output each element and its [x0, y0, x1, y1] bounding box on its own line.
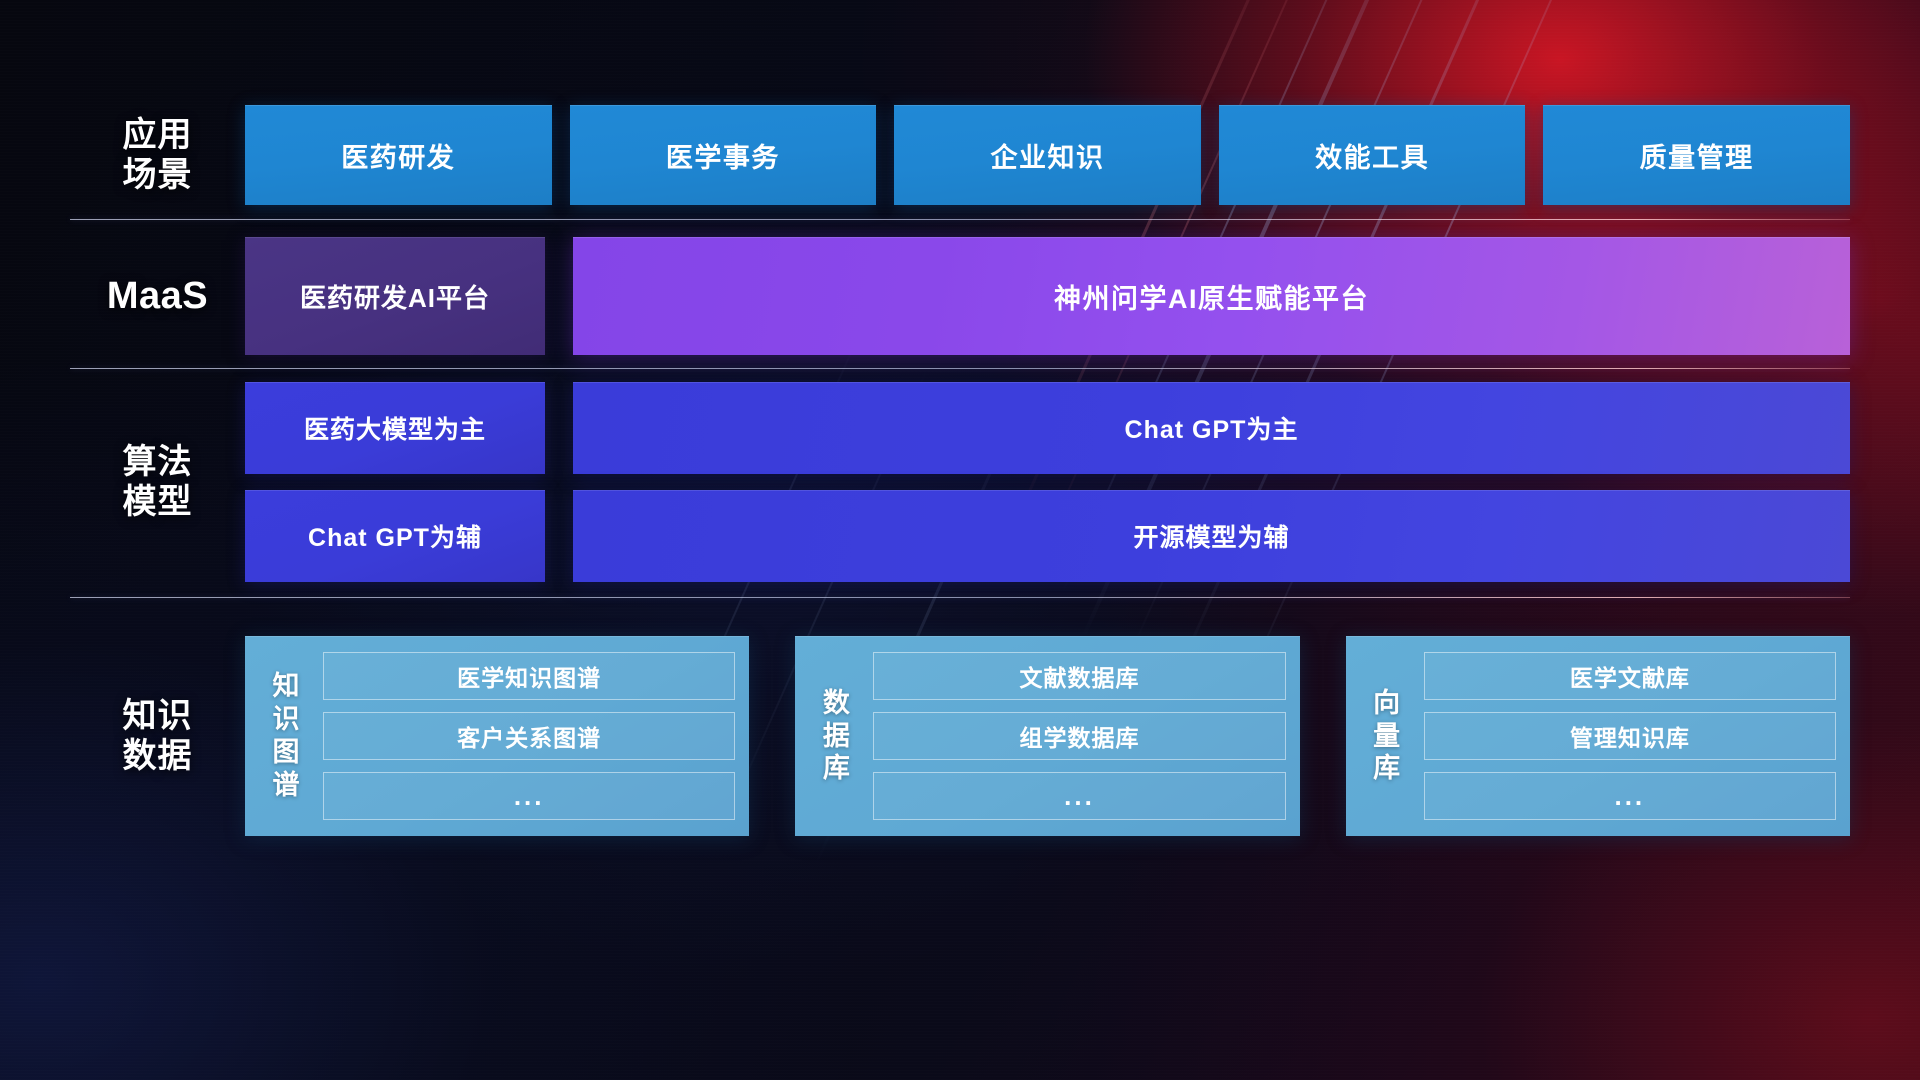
algorithm-stack: 医药大模型为主 Chat GPT为主 Chat GPT为辅 开源模型为辅	[245, 382, 1850, 582]
knowledge-item-list: 医学知识图谱 客户关系图谱 ...	[317, 652, 735, 820]
knowledge-item[interactable]: 组学数据库	[873, 712, 1285, 760]
architecture-stack: 应用 场景 医药研发 医学事务 企业知识 效能工具 质量管理 MaaS 医药研发…	[0, 0, 1920, 1080]
row-label-maas: MaaS	[70, 274, 245, 319]
vertical-label-char: 库	[823, 752, 850, 785]
knowledge-item-more[interactable]: ...	[1424, 772, 1836, 820]
algorithm-card-right[interactable]: Chat GPT为主	[573, 382, 1850, 474]
vertical-label-char: 据	[823, 720, 850, 753]
vertical-label-char: 库	[1373, 752, 1400, 785]
knowledge-item-more[interactable]: ...	[323, 772, 735, 820]
algorithm-card-left[interactable]: 医药大模型为主	[245, 382, 545, 474]
row-body-knowledge-data: 知 识 图 谱 医学知识图谱 客户关系图谱 ...	[245, 636, 1850, 836]
row-knowledge-data: 知识 数据 知 识 图 谱 医学知识图谱 客户关系图谱	[70, 622, 1850, 850]
algorithm-line-secondary: Chat GPT为辅 开源模型为辅	[245, 490, 1850, 582]
scenario-card[interactable]: 医药研发	[245, 105, 552, 205]
row-label-application-scenarios: 应用 场景	[70, 115, 245, 195]
row-label-knowledge-data: 知识 数据	[70, 696, 245, 776]
divider-scenarios-maas	[70, 219, 1850, 220]
scenario-card[interactable]: 效能工具	[1219, 105, 1526, 205]
knowledge-item[interactable]: 客户关系图谱	[323, 712, 735, 760]
knowledge-item-more[interactable]: ...	[873, 772, 1285, 820]
knowledge-item[interactable]: 医学文献库	[1424, 652, 1836, 700]
row-algorithm-model: 算法 模型 医药大模型为主 Chat GPT为主 Chat GPT为辅 开源模型…	[70, 382, 1850, 582]
maas-platform-shenzhou-banner[interactable]: 神州问学AI原生赋能平台	[573, 237, 1850, 355]
knowledge-item-list: 文献数据库 组学数据库 ...	[867, 652, 1285, 820]
row-application-scenarios: 应用 场景 医药研发 医学事务 企业知识 效能工具 质量管理	[70, 105, 1850, 205]
maas-platform-pharma-card[interactable]: 医药研发AI平台	[245, 237, 545, 355]
scenario-card[interactable]: 医学事务	[570, 105, 877, 205]
knowledge-item[interactable]: 医学知识图谱	[323, 652, 735, 700]
knowledge-group-knowledge-graph: 知 识 图 谱 医学知识图谱 客户关系图谱 ...	[245, 636, 749, 836]
vertical-label-char: 数	[823, 687, 850, 720]
maas-strip: 医药研发AI平台 神州问学AI原生赋能平台	[245, 237, 1850, 355]
vertical-label-char: 知	[273, 670, 300, 703]
row-maas: MaaS 医药研发AI平台 神州问学AI原生赋能平台	[70, 237, 1850, 355]
knowledge-group-vertical-label: 知 识 图 谱	[255, 652, 317, 820]
vertical-label-char: 向	[1373, 687, 1400, 720]
vertical-label-char: 谱	[273, 769, 300, 802]
knowledge-group-vertical-label: 向 量 库	[1356, 652, 1418, 820]
knowledge-group-database: 数 据 库 文献数据库 组学数据库 ...	[795, 636, 1299, 836]
algorithm-card-right[interactable]: 开源模型为辅	[573, 490, 1850, 582]
knowledge-group-vector-store: 向 量 库 医学文献库 管理知识库 ...	[1346, 636, 1850, 836]
algorithm-card-left[interactable]: Chat GPT为辅	[245, 490, 545, 582]
vertical-label-char: 识	[273, 703, 300, 736]
knowledge-item[interactable]: 文献数据库	[873, 652, 1285, 700]
scenario-card[interactable]: 质量管理	[1543, 105, 1850, 205]
row-body-algorithm-model: 医药大模型为主 Chat GPT为主 Chat GPT为辅 开源模型为辅	[245, 382, 1850, 582]
knowledge-group-strip: 知 识 图 谱 医学知识图谱 客户关系图谱 ...	[245, 636, 1850, 836]
knowledge-item-list: 医学文献库 管理知识库 ...	[1418, 652, 1836, 820]
scenario-card-strip: 医药研发 医学事务 企业知识 效能工具 质量管理	[245, 105, 1850, 205]
divider-algorithm-knowledge	[70, 597, 1850, 598]
knowledge-group-vertical-label: 数 据 库	[805, 652, 867, 820]
row-body-maas: 医药研发AI平台 神州问学AI原生赋能平台	[245, 237, 1850, 355]
vertical-label-char: 图	[273, 736, 300, 769]
slide-canvas: 应用 场景 医药研发 医学事务 企业知识 效能工具 质量管理 MaaS 医药研发…	[0, 0, 1920, 1080]
row-label-algorithm-model: 算法 模型	[70, 442, 245, 522]
scenario-card[interactable]: 企业知识	[894, 105, 1201, 205]
knowledge-item[interactable]: 管理知识库	[1424, 712, 1836, 760]
algorithm-line-primary: 医药大模型为主 Chat GPT为主	[245, 382, 1850, 474]
vertical-label-char: 量	[1373, 720, 1400, 753]
divider-maas-algorithm	[70, 368, 1850, 369]
row-body-application-scenarios: 医药研发 医学事务 企业知识 效能工具 质量管理	[245, 105, 1850, 205]
